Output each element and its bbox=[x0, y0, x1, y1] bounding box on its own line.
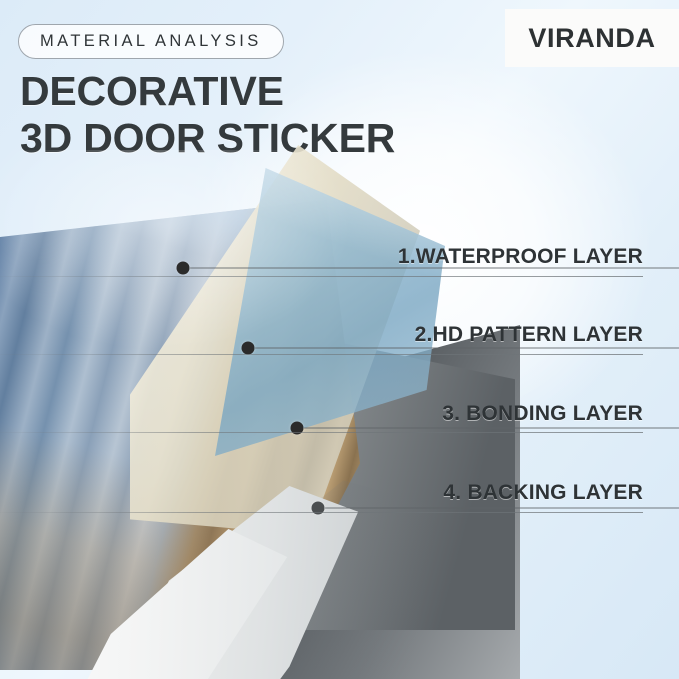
layer-label-rule-4 bbox=[0, 512, 643, 513]
callout-dot-2[interactable] bbox=[242, 342, 255, 355]
callout-leader-line-2 bbox=[255, 348, 679, 349]
layer-label-2: 2.HD PATTERN LAYER bbox=[415, 323, 643, 347]
layer-label-1: 1.WATERPROOF LAYER bbox=[398, 245, 643, 269]
layer-label-rule-3 bbox=[0, 432, 643, 433]
layer-label-rule-1 bbox=[0, 276, 643, 277]
callout-leader-line-3 bbox=[304, 428, 679, 429]
illustration-sheen bbox=[0, 150, 470, 679]
callout-leader-line-4 bbox=[325, 508, 679, 509]
layer-label-4: 4. BACKING LAYER bbox=[443, 481, 643, 505]
product-illustration bbox=[0, 150, 470, 679]
page-title-line-1: DECORATIVE bbox=[20, 68, 540, 115]
section-badge-label: MATERIAL ANALYSIS bbox=[40, 32, 262, 51]
brand-logo: VIRANDA bbox=[505, 9, 679, 67]
callout-dot-1[interactable] bbox=[177, 262, 190, 275]
layer-label-3: 3. BONDING LAYER bbox=[442, 402, 643, 426]
brand-logo-label: VIRANDA bbox=[528, 23, 655, 54]
page-title: DECORATIVE 3D DOOR STICKER bbox=[20, 68, 540, 162]
section-badge: MATERIAL ANALYSIS bbox=[18, 24, 284, 59]
material-analysis-infographic: MATERIAL ANALYSIS DECORATIVE 3D DOOR STI… bbox=[0, 0, 679, 679]
layer-label-rule-2 bbox=[0, 354, 643, 355]
